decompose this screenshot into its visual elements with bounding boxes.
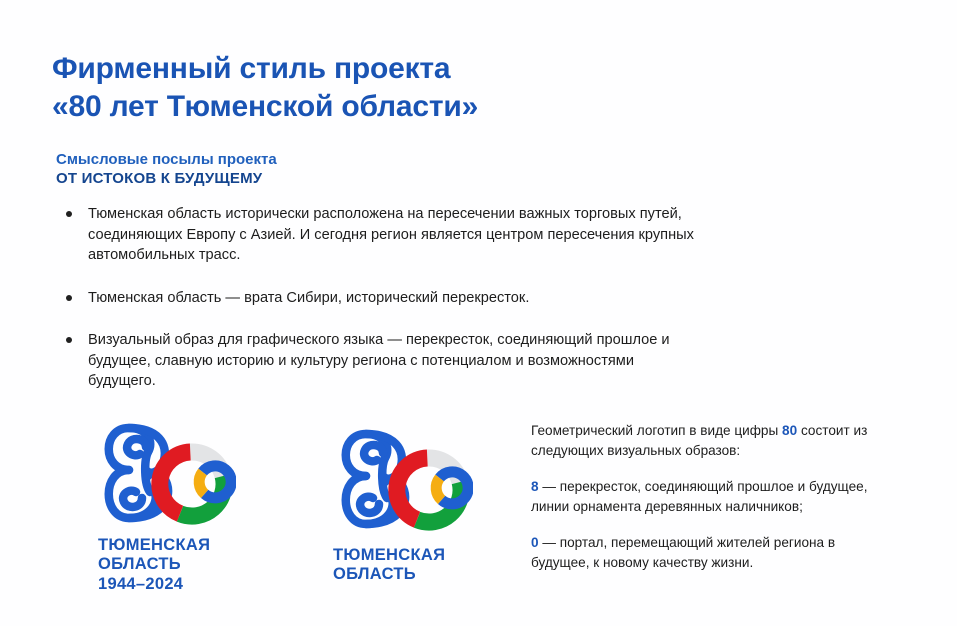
logo-caption-line-2: ОБЛАСТЬ [333, 565, 473, 584]
subtitle-line-2: ОТ ИСТОКОВ К БУДУЩЕМУ [56, 169, 556, 188]
description-p2-accent: 8 [531, 479, 539, 494]
page-title: Фирменный стиль проекта «80 лет Тюменско… [52, 50, 692, 126]
list-item: Тюменская область исторически расположен… [60, 204, 700, 266]
subtitle-line-1: Смысловые посылы проекта [56, 150, 556, 169]
logo-caption-line-1: ТЮМЕНСКАЯ [333, 546, 473, 565]
list-item: Визуальный образ для графического языка … [60, 330, 700, 392]
description-p1-before: Геометрический логотип в виде цифры [531, 423, 782, 438]
description-p3-accent: 0 [531, 535, 539, 550]
slide-canvas: Фирменный стиль проекта «80 лет Тюменско… [0, 0, 957, 626]
logo-caption: ТЮМЕНСКАЯ ОБЛАСТЬ 1944–2024 [98, 536, 236, 594]
bullet-dot-icon [66, 295, 72, 301]
subtitle: Смысловые посылы проекта ОТ ИСТОКОВ К БУ… [56, 150, 556, 188]
page-title-line-1: Фирменный стиль проекта [52, 50, 692, 88]
list-item-text: Визуальный образ для графического языка … [88, 330, 700, 392]
logo-80-mark-icon [325, 424, 473, 536]
description-paragraph-1: Геометрический логотип в виде цифры 80 с… [531, 421, 891, 460]
page-title-line-2: «80 лет Тюменской области» [52, 88, 692, 126]
description-p1-accent: 80 [782, 423, 797, 438]
description-paragraph-3: 0 — портал, перемещающий жителей региона… [531, 533, 891, 572]
logo-caption-line-1: ТЮМЕНСКАЯ [98, 536, 236, 555]
bullet-dot-icon [66, 337, 72, 343]
logo-80-mark-icon [88, 418, 236, 530]
list-item-text: Тюменская область исторически расположен… [88, 204, 700, 266]
logo-caption: ТЮМЕНСКАЯ ОБЛАСТЬ [333, 546, 473, 585]
logo-caption-line-2: ОБЛАСТЬ [98, 555, 236, 574]
description-p2-text: — перекресток, соединяющий прошлое и буд… [531, 479, 868, 514]
key-messages-list: Тюменская область исторически расположен… [60, 204, 700, 392]
logo-description: Геометрический логотип в виде цифры 80 с… [531, 421, 891, 572]
description-p3-text: — портал, перемещающий жителей региона в… [531, 535, 835, 570]
list-item: Тюменская область — врата Сибири, истори… [60, 288, 700, 309]
bullet-dot-icon [66, 211, 72, 217]
logo-lockup-short: ТЮМЕНСКАЯ ОБЛАСТЬ [325, 424, 473, 585]
description-paragraph-2: 8 — перекресток, соединяющий прошлое и б… [531, 477, 891, 516]
logo-lockup-anniversary: ТЮМЕНСКАЯ ОБЛАСТЬ 1944–2024 [88, 418, 236, 594]
list-item-text: Тюменская область — врата Сибири, истори… [88, 288, 700, 309]
logo-caption-years: 1944–2024 [98, 575, 236, 594]
